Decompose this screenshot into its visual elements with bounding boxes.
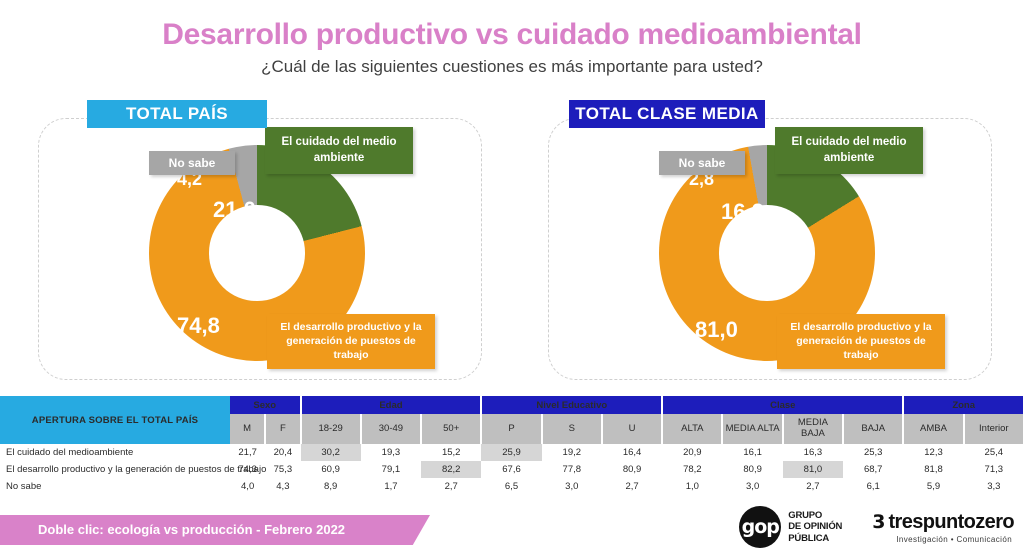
- table-cell: 20,4: [265, 444, 300, 461]
- table-cell: 6,5: [481, 478, 541, 495]
- table-column-header: 18-29: [301, 414, 361, 444]
- table-cell: 2,7: [602, 478, 662, 495]
- table-cell: 80,9: [602, 461, 662, 478]
- table-cell-highlighted: 30,2: [301, 444, 361, 461]
- table-cell: 16,4: [602, 444, 662, 461]
- callout-no-sabe: No sabe: [149, 151, 235, 175]
- table-cell: 1,0: [662, 478, 722, 495]
- table-cell-highlighted: 82,2: [421, 461, 481, 478]
- tpz-three-icon: 3: [872, 511, 885, 533]
- table-cell: 75,3: [265, 461, 300, 478]
- table-cell: 19,2: [542, 444, 602, 461]
- gop-line-2: DE OPINIÓN: [788, 521, 842, 533]
- table-cell: 8,9: [301, 478, 361, 495]
- panel-title-total-clase-media: TOTAL CLASE MEDIA: [569, 100, 765, 128]
- table-cell: 67,6: [481, 461, 541, 478]
- title-block: Desarrollo productivo vs cuidado medioam…: [0, 18, 1024, 77]
- table-column-header: 50+: [421, 414, 481, 444]
- table-column-header: AMBA: [903, 414, 963, 444]
- table-group-header-row: APERTURA SOBRE EL TOTAL PAÍS SexoEdadNiv…: [0, 396, 1024, 414]
- table-cell: 5,9: [903, 478, 963, 495]
- table-cell: 15,2: [421, 444, 481, 461]
- breakdown-table-zone: APERTURA SOBRE EL TOTAL PAÍS SexoEdadNiv…: [0, 396, 1024, 501]
- footer-ribbon: Doble clic: ecología vs producción - Feb…: [0, 515, 430, 545]
- table-group-header: Nivel Educativo: [481, 396, 662, 414]
- table-cell-highlighted: 81,0: [783, 461, 843, 478]
- table-cell: 81,8: [903, 461, 963, 478]
- table-cell: 16,3: [783, 444, 843, 461]
- gop-line-3: PÚBLICA: [788, 533, 842, 545]
- callout-medio-ambiente: El cuidado del medio ambiente: [265, 127, 413, 174]
- table-cell: 25,4: [964, 444, 1024, 461]
- slide-root: Desarrollo productivo vs cuidado medioam…: [0, 0, 1024, 559]
- table-cell: 4,0: [230, 478, 265, 495]
- table-column-header: P: [481, 414, 541, 444]
- table-cell: 2,7: [421, 478, 481, 495]
- table-group-header: Clase: [662, 396, 903, 414]
- callout-desarrollo: El desarrollo productivo y la generación…: [777, 314, 945, 369]
- callout-medio-ambiente: El cuidado del medio ambiente: [775, 127, 923, 174]
- table-cell: 21,7: [230, 444, 265, 461]
- logo-grupo-opinion-publica: gop GRUPO DE OPINIÓN PÚBLICA: [739, 506, 842, 548]
- table-cell: 3,3: [964, 478, 1024, 495]
- table-group-header: Zona: [903, 396, 1024, 414]
- table-column-header: Interior: [964, 414, 1024, 444]
- table-row-label: No sabe: [0, 478, 230, 495]
- panel-total-pais: TOTAL PAÍS 4,2 21,0 74,8 No sabe El cuid…: [38, 118, 482, 380]
- table-row: El desarrollo productivo y la generación…: [0, 461, 1024, 478]
- table-group-header: Edad: [301, 396, 482, 414]
- donut-value-desarrollo: 81,0: [695, 317, 738, 343]
- donut-value-medio-ambiente: 21,0: [213, 197, 256, 223]
- table-cell: 25,3: [843, 444, 903, 461]
- table-cell: 12,3: [903, 444, 963, 461]
- panel-total-clase-media: TOTAL CLASE MEDIA 2,8 16,2 81,0 No sabe …: [548, 118, 992, 380]
- table-cell: 79,1: [361, 461, 421, 478]
- table-cell-highlighted: 25,9: [481, 444, 541, 461]
- table-column-header: ALTA: [662, 414, 722, 444]
- table-column-header: M: [230, 414, 265, 444]
- page-subtitle: ¿Cuál de las siguientes cuestiones es má…: [0, 57, 1024, 77]
- table-cell: 20,9: [662, 444, 722, 461]
- panel-title-total-pais: TOTAL PAÍS: [87, 100, 267, 128]
- table-corner-label: APERTURA SOBRE EL TOTAL PAÍS: [0, 396, 230, 444]
- table-row: No sabe4,04,38,91,72,76,53,02,71,03,02,7…: [0, 478, 1024, 495]
- table-column-header: MEDIABAJA: [783, 414, 843, 444]
- table-cell: 78,2: [662, 461, 722, 478]
- table-column-header: U: [602, 414, 662, 444]
- gop-wordmark: GRUPO DE OPINIÓN PÚBLICA: [788, 510, 842, 545]
- table-column-header: MEDIA ALTA: [722, 414, 782, 444]
- callout-desarrollo: El desarrollo productivo y la generación…: [267, 314, 435, 369]
- table-cell: 4,3: [265, 478, 300, 495]
- table-cell: 6,1: [843, 478, 903, 495]
- table-column-header: BAJA: [843, 414, 903, 444]
- table-row-label: El cuidado del medioambiente: [0, 444, 230, 461]
- table-cell: 68,7: [843, 461, 903, 478]
- table-column-header: F: [265, 414, 300, 444]
- donut-value-medio-ambiente: 16,2: [721, 199, 764, 225]
- table-cell: 16,1: [722, 444, 782, 461]
- table-group-header: Sexo: [230, 396, 301, 414]
- table-column-header: 30-49: [361, 414, 421, 444]
- table-column-header: S: [542, 414, 602, 444]
- logo-trespuntozero: 3 trespuntozero Investigación • Comunica…: [872, 511, 1014, 544]
- tpz-name: trespuntozero: [888, 511, 1014, 534]
- table-row-label: El desarrollo productivo y la generación…: [0, 461, 230, 478]
- table-cell: 60,9: [301, 461, 361, 478]
- breakdown-table: APERTURA SOBRE EL TOTAL PAÍS SexoEdadNiv…: [0, 396, 1024, 495]
- callout-no-sabe: No sabe: [659, 151, 745, 175]
- table-cell: 1,7: [361, 478, 421, 495]
- page-title: Desarrollo productivo vs cuidado medioam…: [0, 18, 1024, 51]
- table-cell: 3,0: [542, 478, 602, 495]
- gop-line-1: GRUPO: [788, 510, 842, 522]
- table-row: El cuidado del medioambiente21,720,430,2…: [0, 444, 1024, 461]
- tpz-tagline: Investigación • Comunicación: [896, 535, 1012, 544]
- table-cell: 77,8: [542, 461, 602, 478]
- donut-value-desarrollo: 74,8: [177, 313, 220, 339]
- table-cell: 19,3: [361, 444, 421, 461]
- footer-logos: gop GRUPO DE OPINIÓN PÚBLICA 3 trespunto…: [739, 506, 1014, 548]
- gop-circle-icon: gop: [739, 506, 781, 548]
- tpz-wordmark: 3 trespuntozero: [872, 511, 1014, 534]
- table-cell: 80,9: [722, 461, 782, 478]
- table-cell: 71,3: [964, 461, 1024, 478]
- table-cell: 3,0: [722, 478, 782, 495]
- table-cell: 2,7: [783, 478, 843, 495]
